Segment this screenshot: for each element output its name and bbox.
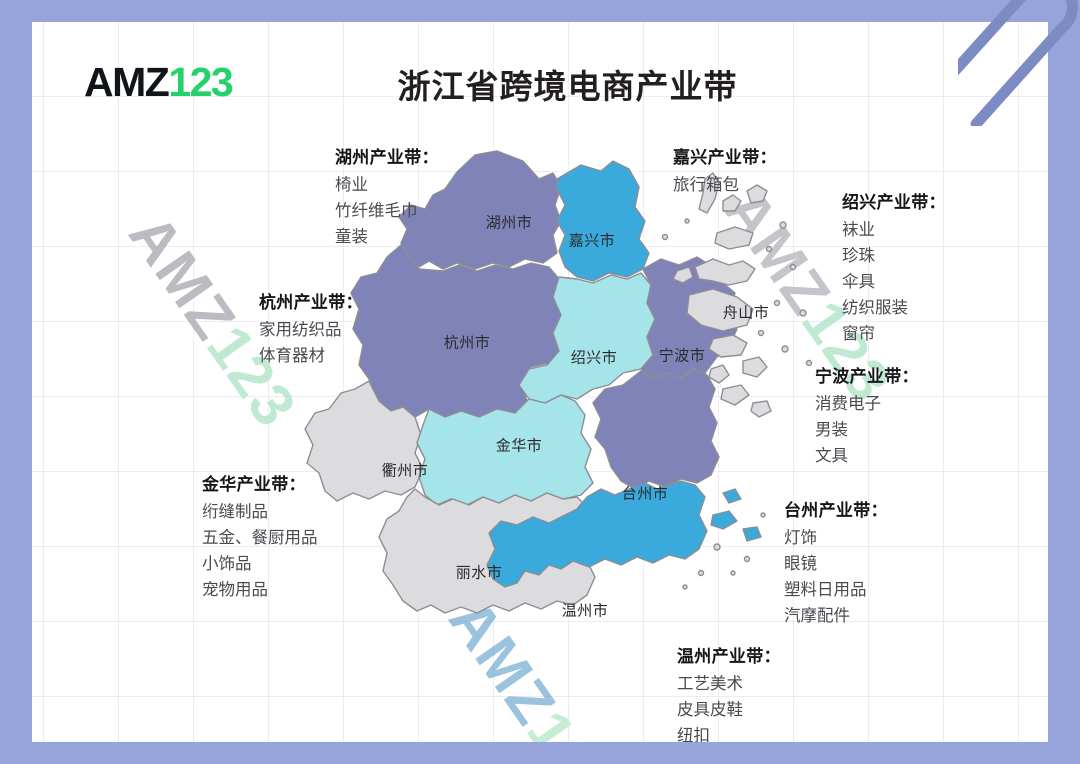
belt-title: 湖州产业带：	[335, 145, 439, 172]
belt-item: 五金、餐厨用品	[202, 525, 318, 551]
belt-item: 绗缝制品	[202, 499, 318, 525]
belt-item: 童装	[335, 224, 439, 250]
region-taizhou	[593, 369, 719, 489]
region-jiaxing	[557, 161, 649, 281]
belt-note-hangzhou: 杭州产业带： 家用纺织品 体育器材	[259, 290, 363, 369]
belt-title: 宁波产业带：	[815, 364, 919, 391]
belt-note-shaoxing: 绍兴产业带： 袜业 珍珠 伞具 纺织服装 窗帘	[842, 190, 946, 347]
belt-item: 塑料日用品	[784, 577, 888, 603]
belt-item: 旅行箱包	[673, 172, 777, 198]
infographic-root: AMZ123 浙江省跨境电商产业带 AMZ123 AMZ123 AMZ123	[0, 0, 1080, 764]
belt-item: 体育器材	[259, 343, 363, 369]
belt-note-jiaxing: 嘉兴产业带： 旅行箱包	[673, 145, 777, 198]
belt-item: 皮具皮鞋	[677, 697, 781, 723]
belt-item: 纽扣	[677, 723, 781, 742]
belt-note-taizhou: 台州产业带： 灯饰 眼镜 塑料日用品 汽摩配件	[784, 498, 888, 629]
belt-item: 工艺美术	[677, 671, 781, 697]
belt-note-ningbo: 宁波产业带： 消费电子 男装 文具	[815, 364, 919, 469]
belt-note-huzhou: 湖州产业带： 椅业 竹纤维毛巾 童装	[335, 145, 439, 250]
belt-item: 家用纺织品	[259, 317, 363, 343]
offshore-islets	[711, 489, 761, 541]
belt-item: 文具	[815, 443, 919, 469]
belt-item: 窗帘	[842, 321, 946, 347]
paperclip-icon	[958, 0, 1080, 126]
belt-item: 眼镜	[784, 551, 888, 577]
belt-title: 绍兴产业带：	[842, 190, 946, 217]
belt-item: 消费电子	[815, 391, 919, 417]
belt-title: 嘉兴产业带：	[673, 145, 777, 172]
belt-item: 汽摩配件	[784, 603, 888, 629]
belt-title: 台州产业带：	[784, 498, 888, 525]
belt-note-jinhua: 金华产业带： 绗缝制品 五金、餐厨用品 小饰品 宠物用品	[202, 472, 318, 603]
page-title: 浙江省跨境电商产业带	[32, 60, 1048, 108]
belt-item: 灯饰	[784, 525, 888, 551]
belt-item: 纺织服装	[842, 295, 946, 321]
belt-title: 金华产业带：	[202, 472, 318, 499]
belt-title: 温州产业带：	[677, 644, 781, 671]
belt-note-wenzhou: 温州产业带： 工艺美术 皮具皮鞋 纽扣	[677, 644, 781, 742]
belt-item: 伞具	[842, 269, 946, 295]
belt-item: 椅业	[335, 172, 439, 198]
belt-item: 男装	[815, 417, 919, 443]
belt-item: 宠物用品	[202, 577, 318, 603]
page-card: AMZ123 浙江省跨境电商产业带 AMZ123 AMZ123 AMZ123	[32, 22, 1048, 742]
belt-item: 珍珠	[842, 243, 946, 269]
belt-item: 小饰品	[202, 551, 318, 577]
belt-item: 袜业	[842, 217, 946, 243]
zhejiang-map: 湖州市 嘉兴市 杭州市 绍兴市 宁波市 舟山市 金华市 衢州市 台州市 丽水市 …	[157, 117, 917, 737]
belt-item: 竹纤维毛巾	[335, 198, 439, 224]
belt-title: 杭州产业带：	[259, 290, 363, 317]
